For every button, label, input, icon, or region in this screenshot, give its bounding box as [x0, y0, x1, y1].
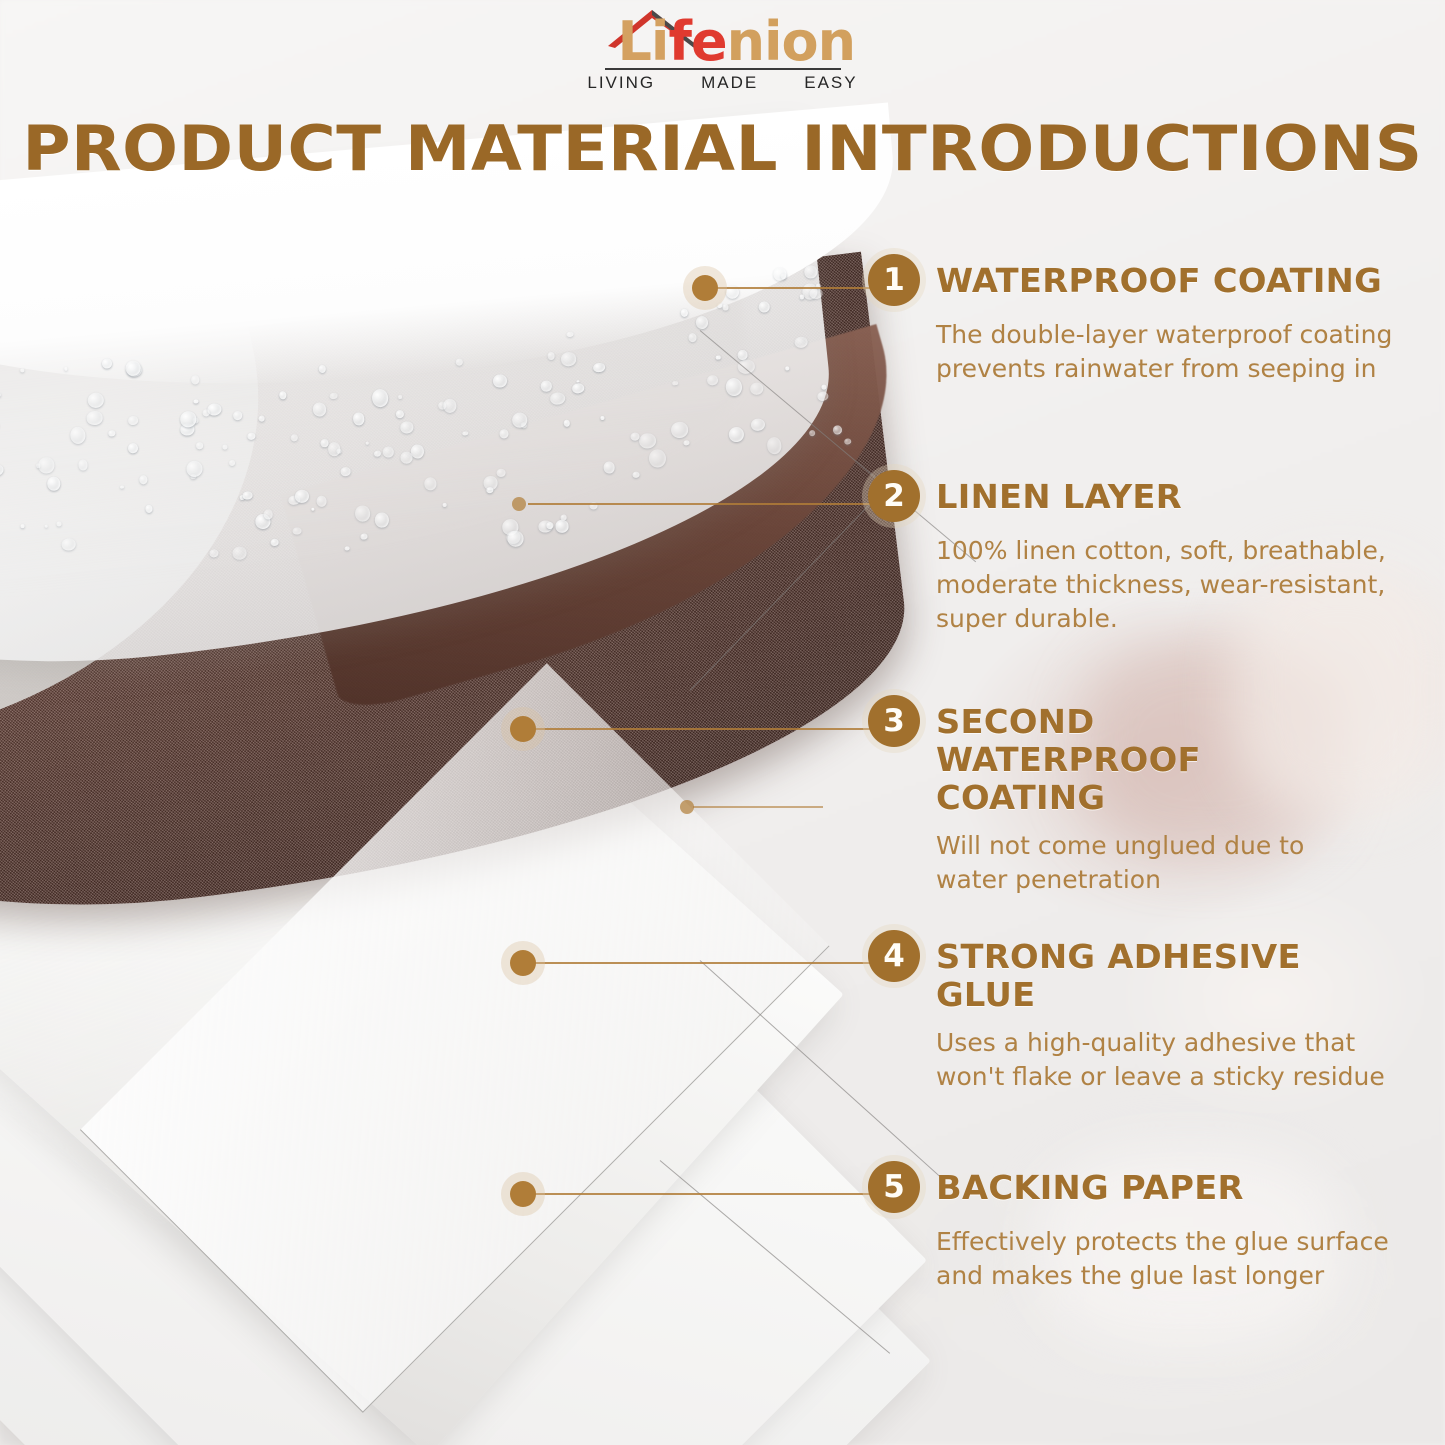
leader-line-3b	[693, 806, 823, 808]
water-droplet	[750, 418, 765, 432]
water-droplet	[540, 381, 552, 392]
callout-3-body: Will not come unglued due to water penet…	[936, 829, 1368, 897]
brand-logo: Lifenion LIVING MADE EASY	[0, 8, 1445, 93]
leader-line-5	[530, 1193, 880, 1195]
water-droplet	[263, 509, 273, 520]
water-droplet	[86, 410, 104, 425]
page-title: PRODUCT MATERIAL INTRODUCTIONS	[0, 112, 1445, 185]
water-droplet	[400, 451, 413, 464]
water-droplet	[571, 382, 585, 394]
water-droplet	[352, 412, 365, 426]
water-droplet	[750, 382, 764, 395]
water-droplet	[108, 430, 115, 436]
water-droplet	[399, 421, 414, 434]
logo-wordmark: Lifenion	[618, 12, 856, 72]
callout-3-title: SECOND WATERPROOF COATING	[936, 703, 1364, 817]
water-droplet	[145, 504, 153, 513]
leader-dot-3	[510, 716, 536, 742]
water-droplet	[603, 461, 615, 474]
callout-5-body: Effectively protects the glue surface an…	[936, 1225, 1398, 1293]
water-droplet	[193, 399, 199, 404]
water-droplet	[340, 467, 351, 477]
callout-4-body: Uses a high-quality adhesive that won't …	[936, 1026, 1398, 1094]
water-droplet	[87, 392, 105, 409]
water-droplet	[548, 352, 556, 361]
water-droplet	[725, 377, 744, 397]
water-droplet	[560, 352, 577, 367]
water-droplet	[728, 426, 745, 443]
water-droplet	[77, 459, 88, 471]
water-droplet	[185, 460, 203, 478]
water-droplet	[737, 359, 755, 374]
leader-line-3	[530, 728, 880, 730]
water-droplet	[20, 368, 25, 373]
water-droplet	[0, 393, 1, 398]
water-droplet	[398, 395, 402, 399]
water-droplet	[462, 431, 468, 436]
tagline-word-2: MADE	[701, 73, 758, 93]
water-droplet	[716, 355, 721, 360]
leader-dot-3b	[680, 800, 694, 814]
water-droplet	[232, 410, 243, 420]
water-droplet	[382, 446, 394, 459]
water-droplet	[316, 495, 327, 507]
water-droplet	[707, 375, 718, 386]
infographic-page: Lifenion LIVING MADE EASY PRODUCT MATERI…	[0, 0, 1445, 1445]
water-droplet	[638, 432, 656, 449]
water-droplet	[222, 445, 228, 451]
water-droplet	[785, 367, 789, 371]
water-droplet	[56, 521, 62, 526]
logo-mark: Lifenion	[598, 8, 848, 74]
water-droplet	[312, 402, 327, 417]
water-droplet	[69, 426, 86, 445]
callout-2-body: 100% linen cotton, soft, breathable, mod…	[936, 534, 1398, 636]
callout-1-head: 1 WATERPROOF COATING	[868, 262, 1398, 306]
callout-3-head: 3 SECOND WATERPROOF COATING	[868, 703, 1368, 817]
water-droplet	[493, 374, 507, 388]
water-droplet	[672, 380, 678, 385]
tagline-word-3: EASY	[804, 73, 857, 93]
water-droplet	[292, 527, 301, 535]
water-droplet	[270, 538, 279, 546]
water-droplet	[455, 358, 463, 366]
water-droplet	[821, 384, 827, 390]
water-droplet	[688, 333, 697, 342]
callout-1-body: The double-layer waterproof coating prev…	[936, 318, 1398, 386]
callout-2: 2 LINEN LAYER 100% linen cotton, soft, b…	[868, 478, 1398, 636]
water-droplet	[355, 505, 371, 522]
callout-4-title: STRONG ADHESIVE GLUE	[936, 938, 1407, 1014]
water-droplet	[330, 392, 338, 399]
water-droplet	[817, 392, 828, 402]
water-droplet	[327, 442, 341, 457]
callout-4-number-badge: 4	[868, 930, 920, 982]
water-droplet	[671, 421, 689, 438]
callout-5-head: 5 BACKING PAPER	[868, 1169, 1398, 1213]
water-droplet	[555, 520, 570, 534]
water-droplet	[365, 441, 369, 445]
callout-3: 3 SECOND WATERPROOF COATING Will not com…	[868, 703, 1368, 897]
water-droplet	[766, 437, 782, 455]
water-droplet	[808, 430, 815, 437]
water-droplet	[47, 476, 62, 492]
callout-5-number-badge: 5	[868, 1161, 920, 1213]
callout-3-number-badge: 3	[868, 695, 920, 747]
water-droplet	[794, 336, 808, 348]
callout-5: 5 BACKING PAPER Effectively protects the…	[868, 1169, 1398, 1293]
water-droplet	[773, 267, 787, 281]
water-droplet	[723, 305, 729, 311]
water-droplet	[680, 308, 689, 317]
water-droplet	[799, 295, 804, 300]
leader-line-2	[528, 503, 880, 505]
water-droplet	[209, 549, 219, 558]
water-droplet	[20, 524, 24, 528]
water-droplet	[139, 475, 148, 485]
water-droplet	[648, 449, 667, 469]
water-droplet	[360, 534, 367, 540]
water-droplet	[127, 443, 138, 454]
water-droplet	[258, 416, 265, 423]
callout-2-number-badge: 2	[868, 470, 920, 522]
water-droplet	[101, 358, 112, 369]
water-droplet	[442, 398, 457, 414]
water-droplet	[684, 440, 691, 446]
water-droplet	[550, 392, 566, 406]
water-droplet	[45, 525, 48, 528]
water-droplet	[373, 450, 381, 457]
leader-dot-2	[512, 497, 526, 511]
callout-1-number-badge: 1	[868, 254, 920, 306]
water-droplet	[232, 546, 248, 560]
callout-4-head: 4 STRONG ADHESIVE GLUE	[868, 938, 1398, 1014]
water-droplet	[395, 410, 404, 419]
water-droplet	[247, 432, 256, 440]
callout-2-head: 2 LINEN LAYER	[868, 478, 1398, 522]
water-droplet	[496, 468, 506, 477]
water-droplet	[563, 419, 570, 427]
water-droplet	[600, 415, 605, 420]
leader-line-1	[712, 287, 882, 289]
water-droplet	[759, 301, 771, 313]
water-droplet	[804, 264, 818, 279]
water-droplet	[61, 538, 76, 551]
tagline-word-1: LIVING	[587, 73, 655, 93]
water-droplet	[371, 389, 389, 409]
water-droplet	[190, 375, 199, 384]
water-droplet	[696, 315, 709, 329]
water-droplet	[294, 489, 310, 504]
water-droplet	[374, 512, 389, 528]
water-droplet	[196, 442, 203, 449]
water-droplet	[64, 367, 68, 371]
leader-dot-4	[510, 950, 536, 976]
water-droplet	[202, 409, 211, 417]
water-droplet	[290, 434, 298, 442]
leader-dot-5	[510, 1181, 536, 1207]
water-droplet	[319, 365, 327, 374]
water-droplet	[832, 425, 842, 436]
water-droplet	[311, 507, 315, 511]
callout-5-title: BACKING PAPER	[936, 1169, 1244, 1207]
water-droplet	[120, 485, 124, 489]
leader-line-4	[530, 962, 880, 964]
leader-dot-1	[692, 275, 718, 301]
callout-2-title: LINEN LAYER	[936, 478, 1182, 516]
water-droplet	[443, 502, 448, 507]
water-droplet	[38, 457, 55, 474]
water-droplet	[229, 460, 236, 467]
water-droplet	[633, 472, 640, 478]
water-droplet	[128, 416, 139, 426]
callout-1-title: WATERPROOF COATING	[936, 262, 1382, 300]
water-droplet	[345, 546, 351, 551]
callout-4: 4 STRONG ADHESIVE GLUE Uses a high-quali…	[868, 938, 1398, 1094]
water-droplet	[0, 464, 4, 477]
water-droplet	[844, 438, 852, 445]
water-droplet	[243, 491, 253, 500]
callout-1: 1 WATERPROOF COATING The double-layer wa…	[868, 262, 1398, 386]
water-droplet	[279, 391, 286, 399]
water-droplet	[486, 487, 494, 494]
water-droplet	[567, 331, 574, 337]
water-droplet	[424, 477, 437, 491]
water-droplet	[593, 362, 606, 373]
water-droplet	[499, 429, 509, 439]
brand-tagline: LIVING MADE EASY	[587, 73, 857, 93]
